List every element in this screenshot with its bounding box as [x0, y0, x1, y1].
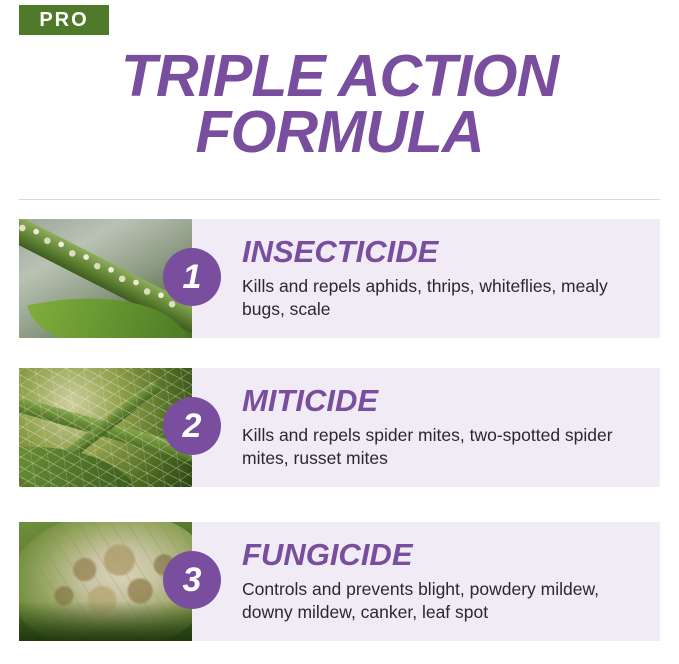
feature-row-miticide: 2 MITICIDE Kills and repels spider mites…: [19, 368, 660, 487]
page-title: TRIPLE ACTION FORMULA: [0, 48, 679, 160]
pro-badge: PRO: [19, 5, 109, 35]
header-divider: [19, 199, 660, 200]
feature-row-fungicide: 3 FUNGICIDE Controls and prevents blight…: [19, 522, 660, 641]
feature-text-block: FUNGICIDE Controls and prevents blight, …: [192, 522, 660, 641]
step-number-badge: 3: [163, 551, 221, 609]
feature-text-block: MITICIDE Kills and repels spider mites, …: [192, 368, 660, 487]
feature-description: Controls and prevents blight, powdery mi…: [242, 578, 646, 625]
pro-badge-label: PRO: [39, 9, 88, 32]
step-number-badge: 2: [163, 397, 221, 455]
feature-text-block: INSECTICIDE Kills and repels aphids, thr…: [192, 219, 660, 338]
page-title-line-2: FORMULA: [0, 104, 679, 160]
step-number-badge: 1: [163, 248, 221, 306]
feature-description: Kills and repels spider mites, two-spott…: [242, 424, 646, 471]
feature-description: Kills and repels aphids, thrips, whitefl…: [242, 275, 646, 322]
feature-title: FUNGICIDE: [242, 539, 646, 572]
feature-row-insecticide: 1 INSECTICIDE Kills and repels aphids, t…: [19, 219, 660, 338]
feature-title: MITICIDE: [242, 385, 646, 418]
photo-shadow-overlay: [19, 601, 192, 641]
feature-title: INSECTICIDE: [242, 236, 646, 269]
